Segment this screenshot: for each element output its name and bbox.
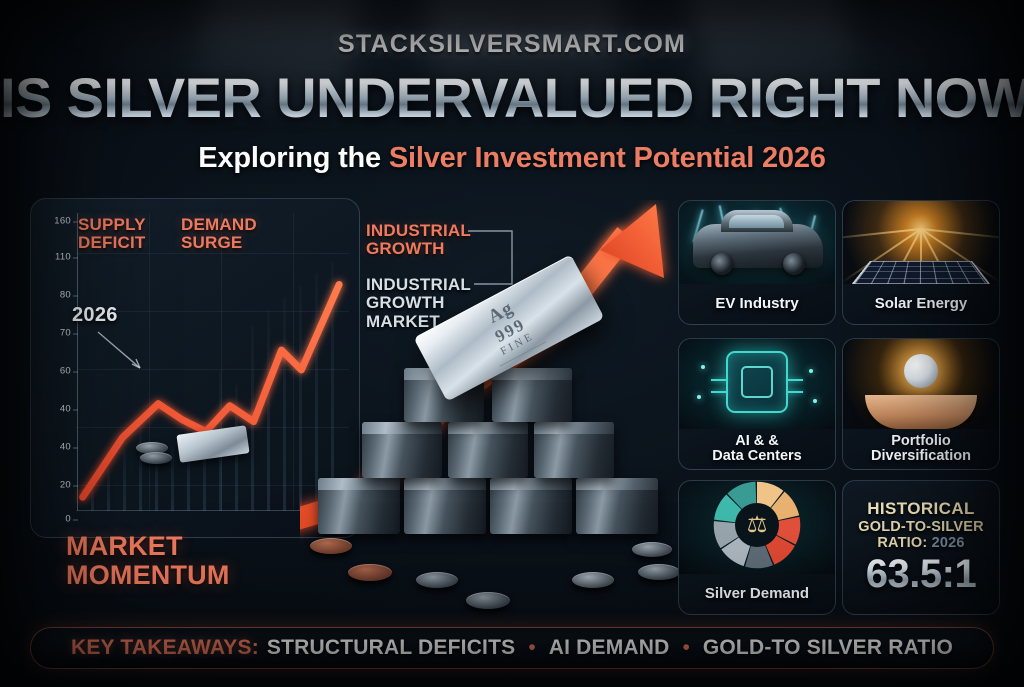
chart-ytick-8: 0 [31, 514, 71, 525]
ratio-line-2: GOLD-TO-SILVER [858, 519, 984, 535]
coin [140, 452, 172, 464]
chart-ytick-3: 70 [31, 328, 71, 339]
demand-surge-label: DEMAND SURGE [181, 216, 257, 252]
tile-portfolio-diversification[interactable]: Portfolio Diversification [842, 338, 1000, 470]
chart-ytick-0: 160 [31, 216, 71, 227]
ratio-line-1: HISTORICAL [867, 499, 975, 519]
page-subtitle: Exploring the Silver Investment Potentia… [0, 142, 1024, 175]
tile-silver-demand[interactable]: ⚖ Silver Demand [678, 480, 836, 615]
infographic-poster: STACKSILVERSMART.COM IS SILVER UNDERVALU… [0, 0, 1024, 687]
coin [348, 564, 392, 581]
takeaway-item-3: GOLD-TO SILVER RATIO [703, 636, 953, 660]
subtitle-accent: Silver Investment Potential 2026 [389, 142, 826, 174]
coin [632, 542, 672, 557]
takeaways-label: KEY TAKEAWAYS: [71, 636, 259, 660]
coin [466, 592, 510, 609]
coin [572, 572, 614, 588]
tile-caption: Silver Demand [679, 574, 835, 614]
supply-deficit-label: SUPPLY DEFICIT [78, 216, 146, 252]
site-url: STACKSILVERSMART.COM [0, 30, 1024, 59]
hand-coin-icon [843, 339, 999, 429]
chart-ytick-1: 110 [31, 252, 71, 263]
coin [638, 564, 680, 580]
chart-ytick-5: 40 [31, 404, 71, 415]
takeaway-separator: • [683, 636, 690, 660]
chart-ytick-2: 80 [31, 290, 71, 301]
ratio-line-3: RATIO: 2026 [877, 535, 964, 551]
ai-chip-icon [679, 339, 835, 429]
gold-silver-ratio-tile: HISTORICAL GOLD-TO-SILVER RATIO: 2026 63… [842, 480, 1000, 615]
silver-bars-illustration: Ag 999 FINE [300, 200, 680, 630]
market-momentum-label: MARKET MOMENTUM [66, 532, 230, 589]
tile-caption: EV Industry [679, 284, 835, 324]
coin [310, 538, 352, 554]
ev-industry-icon [679, 201, 835, 284]
tile-ev-industry[interactable]: EV Industry [678, 200, 836, 325]
takeaway-item-1: STRUCTURAL DEFICITS [267, 636, 515, 660]
ratio-label: RATIO: [877, 535, 927, 551]
silver-demand-donut-chart: ⚖ [679, 481, 835, 574]
takeaway-item-2: AI DEMAND [549, 636, 670, 660]
takeaway-separator: • [528, 636, 535, 660]
tile-solar-energy[interactable]: Solar Energy [842, 200, 1000, 325]
tile-caption: Portfolio Diversification [843, 429, 999, 469]
chart-ytick-6: 40 [31, 442, 71, 453]
tile-caption: Solar Energy [843, 284, 999, 324]
tile-ai-data-centers[interactable]: AI & & Data Centers [678, 338, 836, 470]
year-callout-label: 2026 [72, 304, 118, 327]
subtitle-plain: Exploring the [198, 142, 389, 174]
chart-ytick-7: 20 [31, 480, 71, 491]
coin [416, 572, 458, 588]
tile-caption: AI & & Data Centers [679, 429, 835, 469]
key-takeaways-bar: KEY TAKEAWAYS: STRUCTURAL DEFICITS • AI … [30, 627, 994, 669]
page-title: IS SILVER UNDERVALUED RIGHT NOW? [0, 69, 1024, 126]
ratio-year: 2026 [932, 535, 965, 551]
chart-ytick-4: 60 [31, 366, 71, 377]
scales-icon: ⚖ [735, 503, 779, 547]
solar-energy-icon [843, 201, 999, 284]
ratio-value: 63.5:1 [866, 552, 976, 597]
